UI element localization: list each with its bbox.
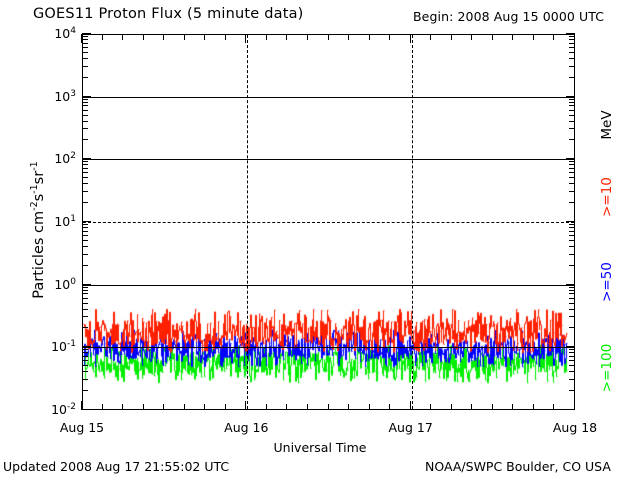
x-axis-minor-tick <box>307 404 308 410</box>
x-axis-minor-tick <box>307 34 308 40</box>
y-axis-minor-tick <box>82 52 88 53</box>
y-axis-major-tick <box>566 96 575 97</box>
x-axis-minor-tick <box>184 404 185 410</box>
y-axis-minor-tick <box>82 265 88 266</box>
x-axis-minor-tick <box>102 34 103 40</box>
x-axis-minor-tick <box>348 404 349 410</box>
y-axis-minor-tick <box>82 293 88 294</box>
y-axis-major-tick <box>566 284 575 285</box>
y-axis-minor-tick <box>82 224 88 225</box>
x-axis-minor-tick <box>471 34 472 40</box>
gridline-vertical-day <box>412 35 413 409</box>
y-axis-minor-tick <box>569 168 575 169</box>
x-axis-minor-tick <box>286 34 287 40</box>
y-axis-minor-tick <box>569 105 575 106</box>
y-axis-major-tick <box>82 158 91 159</box>
y-axis-minor-tick <box>569 356 575 357</box>
y-axis-minor-tick <box>569 379 575 380</box>
y-axis-minor-tick <box>82 183 88 184</box>
y-axis-minor-tick <box>569 303 575 304</box>
y-axis-minor-tick <box>569 139 575 140</box>
y-axis-major-tick <box>82 284 91 285</box>
x-axis-minor-tick <box>143 404 144 410</box>
y-axis-minor-tick <box>569 298 575 299</box>
x-axis-major-tick <box>410 34 411 43</box>
y-axis-minor-tick <box>82 309 88 310</box>
y-axis-major-tick <box>566 158 575 159</box>
y-axis-minor-tick <box>569 240 575 241</box>
y-axis-minor-tick <box>82 246 88 247</box>
x-axis-major-tick <box>574 34 575 43</box>
y-axis-title: Particles cm-2s-1sr-1 <box>31 100 47 360</box>
y-axis-minor-tick <box>569 227 575 228</box>
y-axis-minor-tick <box>82 240 88 241</box>
x-axis-minor-tick <box>369 34 370 40</box>
x-axis-minor-tick <box>328 34 329 40</box>
y-axis-minor-tick <box>569 352 575 353</box>
x-axis-minor-tick <box>451 404 452 410</box>
y-axis-minor-tick <box>82 303 88 304</box>
y-axis-minor-tick <box>569 224 575 225</box>
y-axis-minor-tick <box>82 105 88 106</box>
y-axis-minor-tick <box>82 298 88 299</box>
y-axis-minor-tick <box>569 128 575 129</box>
y-axis-minor-tick <box>569 58 575 59</box>
y-axis-minor-tick <box>569 161 575 162</box>
gridline-horizontal-threshold <box>83 222 574 223</box>
x-axis-minor-tick <box>492 404 493 410</box>
legend-item-ge100: >=100 <box>599 333 615 403</box>
y-axis-major-tick <box>82 346 91 347</box>
y-axis-minor-tick <box>569 191 575 192</box>
x-axis-minor-tick <box>553 404 554 410</box>
x-axis-minor-tick <box>122 404 123 410</box>
y-axis-minor-tick <box>569 371 575 372</box>
y-axis-minor-tick <box>569 99 575 100</box>
x-axis-major-tick <box>574 401 575 410</box>
begin-time-label: Begin: 2008 Aug 15 0000 UTC <box>413 9 604 24</box>
x-axis-tick-label: Aug 17 <box>371 420 451 435</box>
y-axis-minor-tick <box>82 287 88 288</box>
y-axis-minor-tick <box>82 390 88 391</box>
x-axis-minor-tick <box>512 34 513 40</box>
y-axis-minor-tick <box>82 121 88 122</box>
y-axis-minor-tick <box>82 161 88 162</box>
x-axis-minor-tick <box>369 404 370 410</box>
x-axis-minor-tick <box>533 34 534 40</box>
y-axis-minor-tick <box>569 52 575 53</box>
y-axis-tick-label: 104 <box>28 26 76 41</box>
y-axis-minor-tick <box>82 371 88 372</box>
y-axis-minor-tick <box>82 191 88 192</box>
x-axis-major-tick <box>245 401 246 410</box>
y-axis-major-tick <box>566 346 575 347</box>
y-axis-minor-tick <box>82 379 88 380</box>
legend-item-ge10: >=10 <box>599 162 615 232</box>
y-axis-tick-label: 100 <box>28 277 76 292</box>
y-axis-tick-label: 10-2 <box>28 402 76 417</box>
y-axis-minor-tick <box>569 327 575 328</box>
y-axis-minor-tick <box>569 121 575 122</box>
y-axis-minor-tick <box>569 102 575 103</box>
y-axis-minor-tick <box>569 290 575 291</box>
y-axis-minor-tick <box>569 316 575 317</box>
y-axis-minor-tick <box>569 287 575 288</box>
y-axis-tick-label: 101 <box>28 214 76 229</box>
y-axis-minor-tick <box>82 254 88 255</box>
y-axis-minor-tick <box>569 309 575 310</box>
x-axis-minor-tick <box>389 404 390 410</box>
y-axis-minor-tick <box>82 39 88 40</box>
x-axis-minor-tick <box>184 34 185 40</box>
y-axis-minor-tick <box>82 47 88 48</box>
x-axis-minor-tick <box>163 34 164 40</box>
y-axis-major-tick <box>82 96 91 97</box>
page-title: GOES11 Proton Flux (5 minute data) <box>33 6 304 22</box>
x-axis-minor-tick <box>533 404 534 410</box>
x-axis-minor-tick <box>286 404 287 410</box>
gridline-vertical-day <box>247 35 248 409</box>
footer-updated-timestamp: Updated 2008 Aug 17 21:55:02 UTC <box>3 459 229 474</box>
y-axis-minor-tick <box>569 231 575 232</box>
x-axis-minor-tick <box>143 34 144 40</box>
x-axis-minor-tick <box>328 404 329 410</box>
y-axis-minor-tick <box>569 360 575 361</box>
x-axis-title: Universal Time <box>0 440 640 455</box>
gridline-horizontal <box>83 347 574 348</box>
legend-unit-mev: MeV <box>599 90 615 160</box>
plot-area <box>82 34 575 410</box>
y-axis-minor-tick <box>82 36 88 37</box>
y-axis-minor-tick <box>569 349 575 350</box>
x-axis-minor-tick <box>451 34 452 40</box>
x-axis-major-tick <box>81 401 82 410</box>
gridline-horizontal <box>83 97 574 98</box>
x-axis-minor-tick <box>553 34 554 40</box>
footer-source-attribution: NOAA/SWPC Boulder, CO USA <box>425 459 611 474</box>
y-axis-major-tick <box>82 409 91 410</box>
y-axis-minor-tick <box>82 227 88 228</box>
y-axis-minor-tick <box>82 99 88 100</box>
y-axis-major-tick <box>82 221 91 222</box>
y-axis-minor-tick <box>82 356 88 357</box>
y-axis-minor-tick <box>82 365 88 366</box>
y-axis-minor-tick <box>569 365 575 366</box>
y-axis-minor-tick <box>82 168 88 169</box>
legend-item-ge50: >=50 <box>599 247 615 317</box>
y-axis-minor-tick <box>569 115 575 116</box>
y-axis-minor-tick <box>569 66 575 67</box>
y-axis-minor-tick <box>569 164 575 165</box>
y-axis-minor-tick <box>82 290 88 291</box>
x-axis-minor-tick <box>492 34 493 40</box>
y-axis-minor-tick <box>82 43 88 44</box>
x-axis-minor-tick <box>471 404 472 410</box>
y-axis-minor-tick <box>569 293 575 294</box>
y-axis-minor-tick <box>82 172 88 173</box>
x-axis-minor-tick <box>348 34 349 40</box>
x-axis-major-tick <box>245 34 246 43</box>
y-axis-minor-tick <box>82 164 88 165</box>
x-axis-major-tick <box>410 401 411 410</box>
x-axis-minor-tick <box>430 34 431 40</box>
y-axis-minor-tick <box>82 58 88 59</box>
x-axis-minor-tick <box>225 34 226 40</box>
x-axis-minor-tick <box>225 404 226 410</box>
y-axis-minor-tick <box>82 66 88 67</box>
gridline-horizontal <box>83 285 574 286</box>
y-axis-minor-tick <box>569 235 575 236</box>
y-axis-minor-tick <box>569 390 575 391</box>
y-axis-minor-tick <box>569 265 575 266</box>
y-axis-minor-tick <box>82 115 88 116</box>
y-axis-minor-tick <box>569 254 575 255</box>
y-axis-minor-tick <box>569 202 575 203</box>
y-axis-minor-tick <box>82 360 88 361</box>
gridline-horizontal <box>83 159 574 160</box>
y-axis-minor-tick <box>569 172 575 173</box>
x-axis-minor-tick <box>204 34 205 40</box>
y-axis-minor-tick <box>569 183 575 184</box>
y-axis-minor-tick <box>569 77 575 78</box>
x-axis-tick-label: Aug 15 <box>42 420 122 435</box>
x-axis-tick-label: Aug 18 <box>535 420 615 435</box>
x-axis-minor-tick <box>122 34 123 40</box>
y-axis-minor-tick <box>82 352 88 353</box>
x-axis-minor-tick <box>266 34 267 40</box>
y-axis-minor-tick <box>82 128 88 129</box>
y-axis-minor-tick <box>82 327 88 328</box>
x-axis-minor-tick <box>512 404 513 410</box>
x-axis-minor-tick <box>102 404 103 410</box>
y-axis-minor-tick <box>569 177 575 178</box>
y-axis-minor-tick <box>569 246 575 247</box>
y-axis-tick-label: 103 <box>28 89 76 104</box>
y-axis-minor-tick <box>82 102 88 103</box>
y-axis-minor-tick <box>82 231 88 232</box>
x-axis-minor-tick <box>389 34 390 40</box>
x-axis-minor-tick <box>204 404 205 410</box>
y-axis-minor-tick <box>82 110 88 111</box>
x-axis-minor-tick <box>266 404 267 410</box>
x-axis-minor-tick <box>430 404 431 410</box>
y-axis-minor-tick <box>82 202 88 203</box>
x-axis-tick-label: Aug 16 <box>206 420 286 435</box>
y-axis-tick-label: 102 <box>28 151 76 166</box>
y-axis-tick-label: 10-1 <box>28 339 76 354</box>
y-axis-minor-tick <box>82 177 88 178</box>
y-axis-minor-tick <box>569 110 575 111</box>
y-axis-minor-tick <box>82 235 88 236</box>
y-axis-minor-tick <box>82 77 88 78</box>
y-axis-minor-tick <box>82 316 88 317</box>
x-axis-major-tick <box>81 34 82 43</box>
y-axis-major-tick <box>82 33 91 34</box>
y-axis-minor-tick <box>82 139 88 140</box>
y-axis-minor-tick <box>569 47 575 48</box>
y-axis-major-tick <box>566 221 575 222</box>
x-axis-minor-tick <box>163 404 164 410</box>
y-axis-minor-tick <box>82 349 88 350</box>
